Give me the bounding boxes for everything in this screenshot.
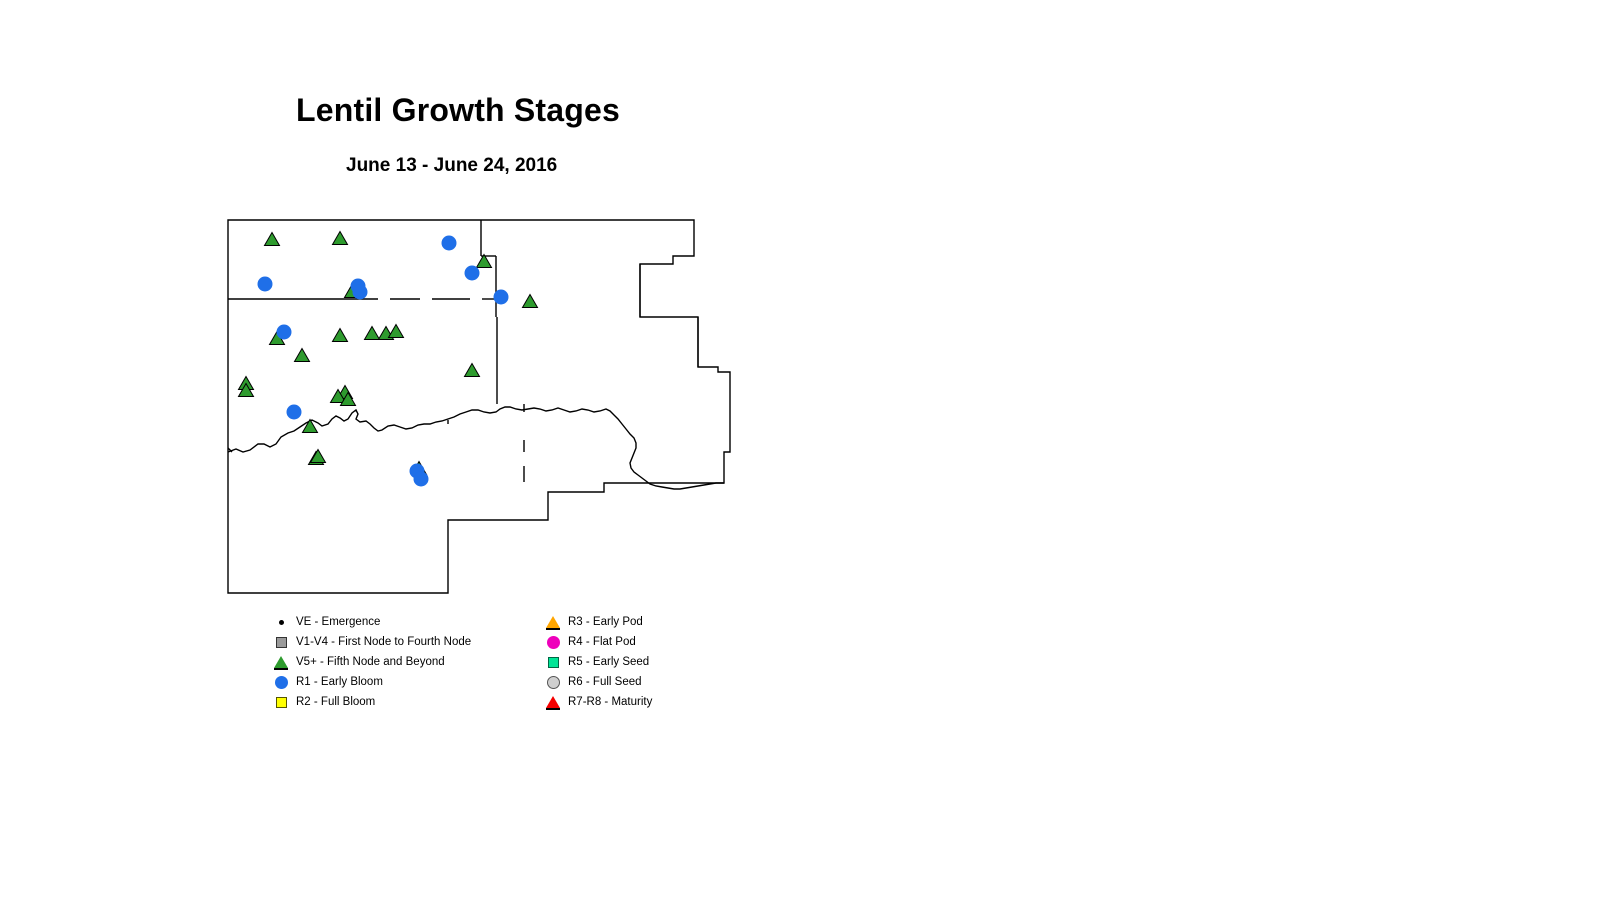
r2-square-icon bbox=[270, 692, 292, 712]
legend-label-v5: V5+ - Fifth Node and Beyond bbox=[296, 656, 445, 668]
legend-label-r3: R3 - Early Pod bbox=[568, 616, 643, 628]
legend-label-r5: R5 - Early Seed bbox=[568, 656, 649, 668]
legend-label-r1: R1 - Early Bloom bbox=[296, 676, 383, 688]
map-marker[interactable] bbox=[311, 450, 326, 463]
legend-label-r6: R6 - Full Seed bbox=[568, 676, 642, 688]
r3-triangle-icon bbox=[542, 612, 564, 632]
map-marker[interactable] bbox=[353, 285, 368, 300]
legend-item-r2[interactable]: R2 - Full Bloom bbox=[270, 692, 471, 712]
map-marker[interactable] bbox=[333, 329, 348, 342]
map-marker[interactable] bbox=[465, 364, 480, 377]
legend-item-r6[interactable]: R6 - Full Seed bbox=[542, 672, 652, 692]
legend-column-right: R3 - Early Pod R4 - Flat Pod R5 - Early … bbox=[542, 612, 652, 712]
legend-item-r3[interactable]: R3 - Early Pod bbox=[542, 612, 652, 632]
map-marker[interactable] bbox=[265, 233, 280, 246]
v5-triangle-icon bbox=[270, 652, 292, 672]
map-marker[interactable] bbox=[258, 277, 273, 292]
r1-circle-icon bbox=[270, 672, 292, 692]
legend: VE - Emergence V1-V4 - First Node to Fou… bbox=[270, 612, 690, 716]
map-marker[interactable] bbox=[277, 325, 292, 340]
r5-square-icon bbox=[542, 652, 564, 672]
map-marker[interactable] bbox=[465, 266, 480, 281]
map-marker[interactable] bbox=[287, 405, 302, 420]
legend-column-left: VE - Emergence V1-V4 - First Node to Fou… bbox=[270, 612, 471, 712]
r4-circle-icon bbox=[542, 632, 564, 652]
map-page: Lentil Growth Stages June 13 - June 24, … bbox=[0, 0, 1612, 900]
data-point-markers[interactable] bbox=[239, 232, 538, 487]
legend-item-v5[interactable]: V5+ - Fifth Node and Beyond bbox=[270, 652, 471, 672]
map-marker[interactable] bbox=[295, 349, 310, 362]
map-marker[interactable] bbox=[414, 472, 429, 487]
map-marker[interactable] bbox=[365, 327, 380, 340]
map-boundaries bbox=[228, 220, 730, 593]
legend-label-r7r8: R7-R8 - Maturity bbox=[568, 696, 652, 708]
legend-item-r5[interactable]: R5 - Early Seed bbox=[542, 652, 652, 672]
v1v4-square-icon bbox=[270, 632, 292, 652]
r7r8-triangle-icon bbox=[542, 692, 564, 712]
legend-item-r1[interactable]: R1 - Early Bloom bbox=[270, 672, 471, 692]
r6-circle-icon bbox=[542, 672, 564, 692]
map-marker[interactable] bbox=[523, 295, 538, 308]
map-marker[interactable] bbox=[333, 232, 348, 245]
legend-label-ve: VE - Emergence bbox=[296, 616, 380, 628]
ve-dot-icon bbox=[270, 612, 292, 632]
map-canvas[interactable] bbox=[0, 0, 1612, 900]
legend-item-v1v4[interactable]: V1-V4 - First Node to Fourth Node bbox=[270, 632, 471, 652]
legend-item-r4[interactable]: R4 - Flat Pod bbox=[542, 632, 652, 652]
map-marker[interactable] bbox=[389, 325, 404, 338]
map-marker[interactable] bbox=[494, 290, 509, 305]
map-marker[interactable] bbox=[442, 236, 457, 251]
legend-item-ve[interactable]: VE - Emergence bbox=[270, 612, 471, 632]
legend-label-r2: R2 - Full Bloom bbox=[296, 696, 375, 708]
legend-label-v1v4: V1-V4 - First Node to Fourth Node bbox=[296, 636, 471, 648]
legend-item-r7r8[interactable]: R7-R8 - Maturity bbox=[542, 692, 652, 712]
legend-label-r4: R4 - Flat Pod bbox=[568, 636, 636, 648]
